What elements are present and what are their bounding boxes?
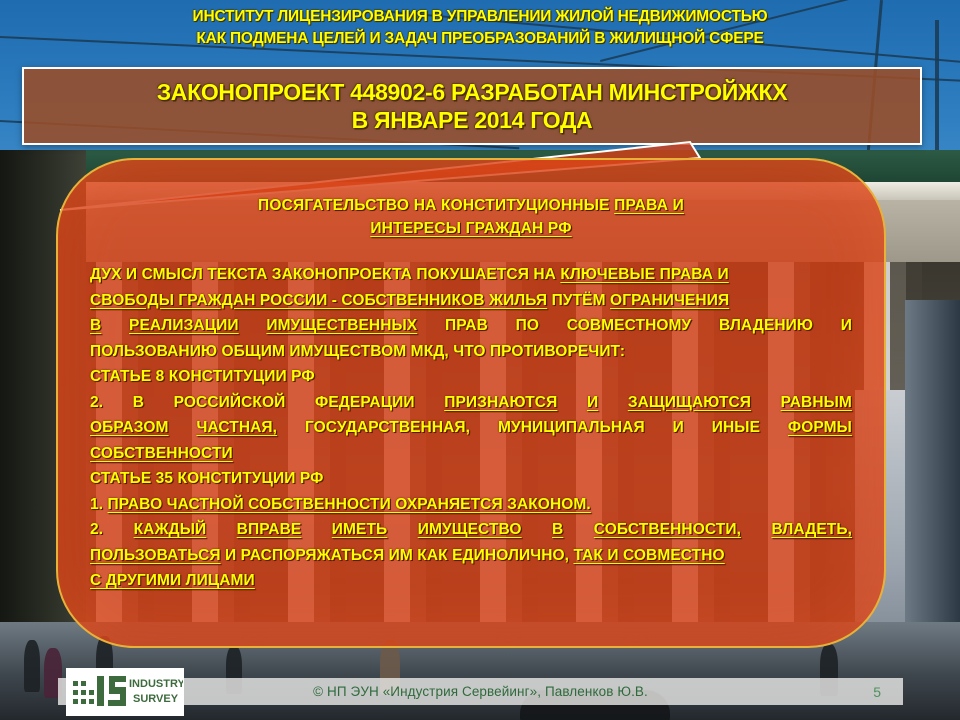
- body-line-7: ОБРАЗОМ ЧАСТНАЯ, ГОСУДАРСТВЕННАЯ, МУНИЦИ…: [90, 415, 852, 441]
- header-line-1: ИНСТИТУТ ЛИЦЕНЗИРОВАНИЯ В УПРАВЛЕНИИ ЖИЛ…: [0, 6, 960, 28]
- panel-heading-line-2: ИНТЕРЕСЫ ГРАЖДАН РФ: [84, 217, 858, 240]
- panel-body: ДУХ И СМЫСЛ ТЕКСТА ЗАКОНОПРОЕКТА ПОКУШАЕ…: [84, 262, 858, 594]
- copyright-text: © НП ЭУН «Индустрия Сервейинг», Павленко…: [313, 684, 648, 699]
- page-number: 5: [873, 684, 881, 700]
- footer-bar: © НП ЭУН «Индустрия Сервейинг», Павленко…: [58, 678, 903, 705]
- body-line-1: ДУХ И СМЫСЛ ТЕКСТА ЗАКОНОПРОЕКТА ПОКУШАЕ…: [90, 262, 852, 288]
- logo-mark-icon: INDUSTRY SURVEY: [71, 672, 183, 712]
- title-line-2: В ЯНВАРЕ 2014 ГОДА: [352, 106, 593, 134]
- body-line-4: ПОЛЬЗОВАНИЮ ОБЩИМ ИМУЩЕСТВОМ МКД, ЧТО ПР…: [90, 339, 852, 365]
- title-line-1: ЗАКОНОПРОЕКТ 448902-6 РАЗРАБОТАН МИНСТРО…: [157, 78, 788, 106]
- body-line-10: 1. ПРАВО ЧАСТНОЙ СОБСТВЕННОСТИ ОХРАНЯЕТС…: [90, 492, 852, 518]
- body-line-3: В РЕАЛИЗАЦИИ ИМУЩЕСТВЕННЫХ ПРАВ ПО СОВМЕ…: [90, 313, 852, 339]
- right-shadow-column: [905, 300, 960, 660]
- body-line-5-article-8: СТАТЬЕ 8 КОНСТИТУЦИИ РФ: [90, 364, 852, 390]
- panel-heading: ПОСЯГАТЕЛЬСТВО НА КОНСТИТУЦИОННЫЕ ПРАВА …: [84, 194, 858, 240]
- body-line-12: ПОЛЬЗОВАТЬСЯ И РАСПОРЯЖАТЬСЯ ИМ КАК ЕДИН…: [90, 543, 852, 569]
- slide-header: ИНСТИТУТ ЛИЦЕНЗИРОВАНИЯ В УПРАВЛЕНИИ ЖИЛ…: [0, 6, 960, 50]
- body-line-11: 2. КАЖДЫЙ ВПРАВЕ ИМЕТЬ ИМУЩЕСТВО В СОБСТ…: [90, 517, 852, 543]
- industry-survey-logo: INDUSTRY SURVEY: [66, 668, 184, 716]
- pedestrian-1: [24, 640, 40, 692]
- body-line-9-article-35: СТАТЬЕ 35 КОНСТИТУЦИИ РФ: [90, 466, 852, 492]
- heading-underlined-text: ПРАВА И: [614, 197, 684, 214]
- body-line-6: 2. В РОССИЙСКОЙ ФЕДЕРАЦИИ ПРИЗНАЮТСЯ И З…: [90, 390, 852, 416]
- logo-text-industry: INDUSTRY: [129, 678, 183, 690]
- body-line-8: СОБСТВЕННОСТИ: [90, 441, 852, 467]
- body-line-2: СВОБОДЫ ГРАЖДАН РОССИИ - СОБСТВЕННИКОВ Ж…: [90, 288, 852, 314]
- body-line-13: С ДРУГИМИ ЛИЦАМИ: [90, 568, 852, 594]
- logo-text-survey: SURVEY: [133, 693, 179, 705]
- heading-plain-text: ПОСЯГАТЕЛЬСТВО НА КОНСТИТУЦИОННЫЕ: [258, 197, 614, 214]
- main-content-panel: ПОСЯГАТЕЛЬСТВО НА КОНСТИТУЦИОННЫЕ ПРАВА …: [56, 158, 886, 648]
- header-line-2: КАК ПОДМЕНА ЦЕЛЕЙ И ЗАДАЧ ПРЕОБРАЗОВАНИЙ…: [0, 28, 960, 50]
- panel-heading-line-1: ПОСЯГАТЕЛЬСТВО НА КОНСТИТУЦИОННЫЕ ПРАВА …: [84, 194, 858, 217]
- title-banner: ЗАКОНОПРОЕКТ 448902-6 РАЗРАБОТАН МИНСТРО…: [22, 67, 922, 145]
